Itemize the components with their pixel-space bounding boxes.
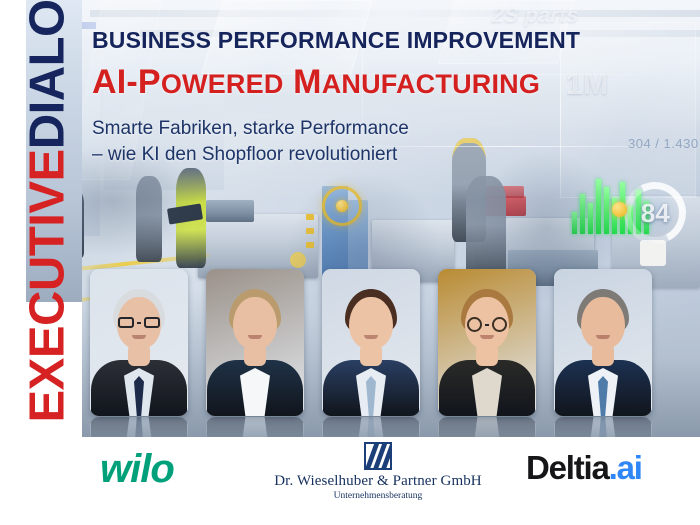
hud-bar [580, 194, 585, 234]
laptop [167, 203, 203, 224]
subtitle-line-1: Smarte Fabriken, starke Performance [92, 116, 580, 142]
portrait-face [581, 297, 625, 349]
wieselhuber-logo-subtitle: Unternehmensberatung [248, 491, 508, 501]
deltia-logo-suffix: .ai [609, 449, 642, 486]
hud-amber-tick [306, 214, 314, 220]
wieselhuber-logo-name: Dr. Wieselhuber & Partner GmbH [248, 473, 508, 490]
hud-gauge-value: 84 [641, 197, 670, 228]
paper-roll [640, 240, 666, 266]
deltia-logo[interactable]: Deltia.ai [526, 451, 642, 484]
page-title: AI-POWERED MANUFACTURING [92, 65, 580, 99]
portrait-shirt [240, 368, 270, 416]
portrait-mouth [248, 335, 262, 339]
portrait-mouth [364, 335, 378, 339]
portrait-glasses-icon [467, 317, 507, 332]
portrait-face [349, 297, 393, 349]
hud-bar [644, 201, 649, 234]
hud-bar [572, 212, 577, 234]
speaker-portrait[interactable] [322, 269, 420, 416]
deltia-logo-name: Deltia [526, 449, 609, 486]
hud-bar [588, 203, 593, 234]
speaker-portrait[interactable] [438, 269, 536, 416]
hud-amber-dot [612, 202, 627, 217]
hud-bar [612, 198, 617, 234]
subtitle-line-2: – wie KI den Shopfloor revolutioniert [92, 142, 580, 168]
eyebrow-text: BUSINESS PERFORMANCE IMPROVEMENT [92, 28, 580, 53]
headline-segment-3: M [284, 63, 322, 101]
portrait-face [233, 297, 277, 349]
speaker-portrait-cell [554, 269, 652, 416]
wieselhuber-mark-icon [364, 442, 392, 470]
portrait-mouth [132, 335, 146, 339]
partner-logos: wilo Dr. Wieselhuber & Partner GmbH Unte… [82, 437, 700, 525]
machine-unit [206, 200, 254, 222]
brand-vertical-wordmark: EXECUTIVEDIALOG [24, 0, 73, 423]
headline-segment-2: OWERED [161, 69, 284, 99]
headline-segment-1: AI-P [92, 63, 161, 101]
hud-amber-tick [306, 228, 314, 234]
wieselhuber-logo[interactable]: Dr. Wieselhuber & Partner GmbH Unternehm… [248, 442, 508, 501]
speaker-portrait-cell [206, 269, 304, 416]
poster-canvas: 2S parts 1M 304 / 1.430 84 EXECUTIVEDIAL… [0, 0, 700, 525]
hud-amber-tick [306, 242, 314, 248]
speaker-portrait-cell [322, 269, 420, 416]
brand-word-executive: EXECUTIVE [21, 149, 75, 422]
speaker-portrait[interactable] [206, 269, 304, 416]
hud-bar [628, 206, 633, 234]
portrait-glasses-icon [118, 317, 160, 328]
speaker-portrait[interactable] [90, 269, 188, 416]
wilo-logo[interactable]: wilo [100, 449, 174, 489]
headline-segment-4: ANUFACTURING [322, 69, 540, 99]
portrait-mouth [596, 335, 610, 339]
speaker-portrait-cell [90, 269, 188, 416]
portrait-shirt [472, 368, 502, 416]
speaker-portrait-row [90, 269, 652, 416]
title-block: BUSINESS PERFORMANCE IMPROVEMENT AI-POWE… [92, 28, 580, 168]
subtitle-block: Smarte Fabriken, starke Performance – wi… [92, 116, 580, 167]
brand-word-dialog: DIALOG [21, 0, 75, 149]
speaker-portrait[interactable] [554, 269, 652, 416]
hud-amber-dot [336, 200, 348, 212]
speaker-portrait-cell [438, 269, 536, 416]
hud-amber-dot [290, 252, 306, 268]
portrait-mouth [480, 335, 494, 339]
